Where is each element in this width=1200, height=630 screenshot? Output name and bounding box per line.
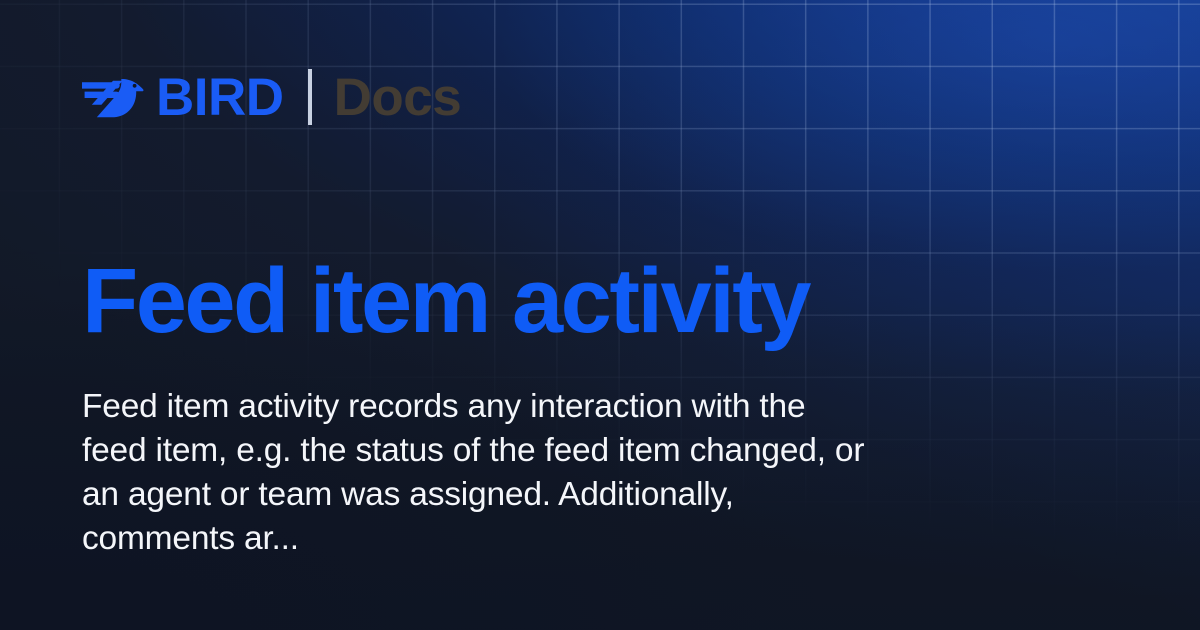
card-content: BIRD Docs Feed item activity Feed item a… (0, 0, 1200, 630)
brand-divider (308, 69, 312, 125)
page-title: Feed item activity (82, 255, 809, 347)
bird-logo-icon (82, 68, 144, 126)
brand-section-label: Docs (334, 71, 462, 124)
page-description: Feed item activity records any interacti… (82, 385, 872, 561)
brand-header: BIRD Docs (82, 68, 461, 126)
og-card: BIRD Docs Feed item activity Feed item a… (0, 0, 1200, 630)
brand-name: BIRD (156, 71, 284, 124)
